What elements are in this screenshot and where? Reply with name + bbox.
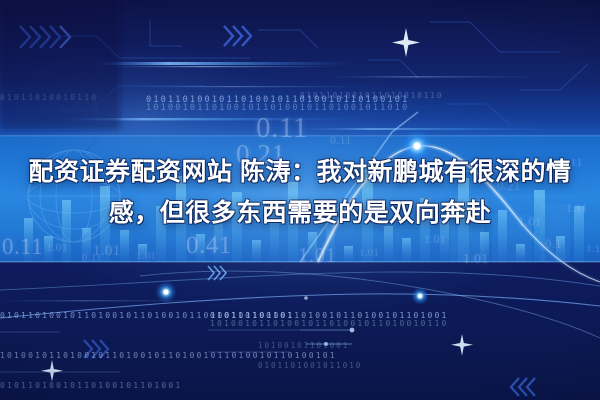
sparkle-star-icon xyxy=(451,334,473,356)
headline: 配资证券配资网站 陈涛：我对新鹏城有很深的情 感，但很多东西需要的是双向奔赴 xyxy=(0,152,600,234)
corner-shade xyxy=(0,0,120,130)
svg-text:0101101001011010: 0101101001011010 xyxy=(258,361,362,370)
light-streak-icon xyxy=(0,300,210,301)
svg-text:10100101101001: 10100101101001 xyxy=(258,341,349,350)
headline-line-1: 配资证券配资网站 陈涛：我对新鹏城有很深的情 xyxy=(10,152,590,193)
chevron-arrows-icon-bottom-right xyxy=(511,378,535,396)
numeral-overlay: 1.01 xyxy=(298,243,336,268)
finance-news-banner: 010110100101101001011010010110100101 101… xyxy=(0,0,600,400)
headline-line-2: 感，但很多东西需要的是双向奔赴 xyxy=(10,193,590,234)
svg-text:01011010010110100101101001: 01011010010110100101101001 xyxy=(0,381,182,390)
numeral-overlay: 0.1 xyxy=(545,236,562,252)
light-streak-icon xyxy=(300,128,560,130)
numeral-overlay: 1.01 xyxy=(46,240,68,255)
sparkle-star-icon xyxy=(392,28,420,57)
numeral-overlay: 0.11 xyxy=(2,234,43,260)
numeral-overlay: 1.01 xyxy=(463,252,489,268)
light-streak-icon xyxy=(110,66,340,67)
svg-text:010110100101101001011010010110: 0101101001011010010110100101101001011010… xyxy=(0,311,295,320)
dot-node xyxy=(304,296,308,300)
glow-node-core xyxy=(163,289,168,294)
svg-text:101001011010010110100101101001: 1010010110100101101001011010010110 xyxy=(210,319,449,328)
svg-text:0101101001011010010110: 0101101001011010010110 xyxy=(300,91,443,100)
numeral-overlay: 1.01 xyxy=(424,232,446,247)
light-streak-icon xyxy=(96,62,354,65)
light-streak-icon xyxy=(140,86,370,87)
numeral-overlay: 0.41 xyxy=(186,232,232,260)
numeral-overlay: 0.11 xyxy=(330,133,352,148)
numeral-overlay: 1.11 xyxy=(586,243,600,255)
numeral-overlay: 1.01 xyxy=(136,250,156,262)
light-streak-icon xyxy=(330,76,540,78)
numeral-overlay: 0.11 xyxy=(82,252,102,264)
glow-node-core xyxy=(418,294,422,298)
numeral-overlay: 1.01 xyxy=(359,247,379,259)
chevron-arrows-icon-right xyxy=(224,26,251,46)
glow-node-core xyxy=(413,142,420,149)
sparkle-star-icon xyxy=(41,360,63,382)
